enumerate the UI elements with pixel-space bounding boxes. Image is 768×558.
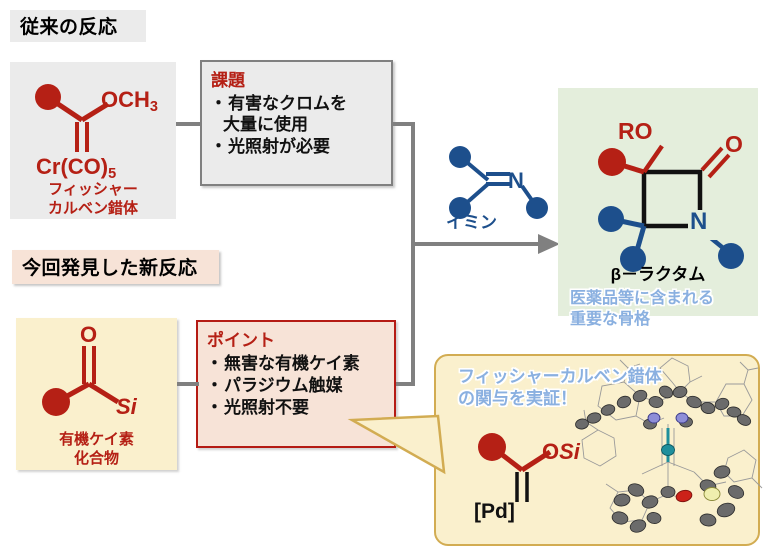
list-item: ・パラジウム触媒 (206, 375, 394, 396)
imine-caption: イミン (446, 208, 497, 233)
old-reactant-panel: OCH3 Cr(CO)5 フィッシャー カルベン錯体 (10, 62, 176, 219)
point-box-list: ・無害な有機ケイ素 ・パラジウム触媒 ・光照射不要 (198, 353, 394, 418)
fischer-carbene-structure (10, 66, 176, 166)
product-name: β－ラクタム (558, 260, 758, 285)
palladium-atom (662, 445, 675, 456)
diagram-canvas: 従来の反応 OCH3 Cr(CO)5 フィッシャー カルベン錯体 課題 ・有害な… (0, 0, 768, 558)
connector-old-to-issue (176, 122, 202, 126)
osi-label: OSi (542, 439, 580, 465)
cr-co-5-label: Cr(CO)5 (36, 154, 116, 182)
imine-substituent-dot-top (449, 146, 471, 168)
carbon-substituent-dot (42, 388, 70, 416)
carbon-substituent-dot (35, 84, 61, 110)
new-reactant-caption: 有機ケイ素 化合物 (16, 430, 177, 468)
och3-label: OCH3 (101, 87, 158, 115)
silicon-atom (704, 488, 720, 501)
oxygen-label: O (80, 322, 97, 348)
connector-new-to-point (177, 382, 199, 386)
old-reactant-caption: フィッシャー カルベン錯体 (10, 180, 176, 218)
list-item: ・光照射が必要 (210, 136, 391, 157)
product-panel: RO O N β－ラクタム 医薬品等に含まれる 重要な骨格 (558, 88, 758, 316)
issue-box-title: 課題 (211, 66, 391, 91)
evidence-bubble-title: フィッシャーカルベン錯体 の関与を実証！ (458, 366, 662, 410)
new-reactant-panel: O Si 有機ケイ素 化合物 (16, 318, 177, 470)
connector-vertical-merge (411, 122, 415, 386)
pd-carbene-dot (478, 433, 506, 461)
pd-bracket-label: [Pd] (474, 500, 515, 524)
point-box-title: ポイント (207, 326, 394, 351)
evidence-bubble: フィッシャーカルベン錯体 の関与を実証！ OSi [Pd] (434, 354, 760, 546)
bubble-tail (346, 414, 476, 510)
lactam-nitrogen-label: N (690, 208, 707, 236)
silicon-label: Si (116, 394, 137, 420)
section-header-old-reaction: 従来の反応 (10, 10, 146, 42)
list-item: ・無害な有機ケイ素 (206, 353, 394, 374)
issue-box: 課題 ・有害なクロムを大量に使用 ・光照射が必要 (200, 60, 393, 186)
product-note: 医薬品等に含まれる 重要な骨格 (570, 288, 714, 330)
ro-label: RO (618, 118, 653, 145)
issue-box-list: ・有害なクロムを大量に使用 ・光照射が必要 (202, 93, 391, 157)
reaction-arrow-shaft (411, 242, 545, 246)
ro-carbon-dot (598, 148, 626, 176)
oxygen-atom (675, 489, 693, 504)
beta-lactam-structure (578, 106, 758, 246)
carbonyl-oxygen-label: O (725, 131, 743, 158)
section-header-new-reaction: 今回発見した新反応 (12, 250, 219, 284)
list-item: ・有害なクロムを大量に使用 (210, 93, 391, 135)
lactam-substituent-dot-left (598, 206, 624, 232)
imine-nitrogen-label: N (508, 168, 524, 194)
imine-substituent-dot-right (526, 197, 548, 219)
